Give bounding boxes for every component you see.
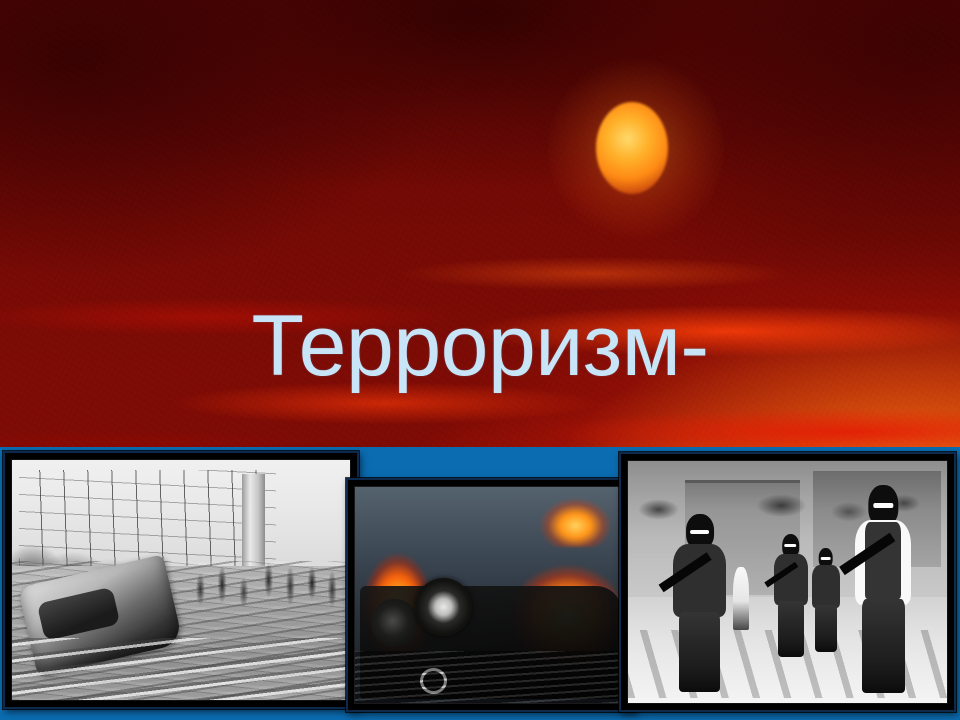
photo-train-derailment[interactable] <box>3 451 359 709</box>
derailment-onlookers <box>188 542 343 619</box>
militant-torso <box>812 565 840 608</box>
photo-burning-vehicle-image <box>354 486 628 704</box>
militant-legs <box>815 605 837 652</box>
photo-armed-militants-image <box>627 460 948 704</box>
derailment-twisted-rails <box>11 638 351 700</box>
militant-figure-background-2 <box>810 548 842 650</box>
photo-armed-militants[interactable] <box>619 452 956 712</box>
burning-vehicle-debris <box>355 651 627 703</box>
militant-legs <box>778 601 804 657</box>
militant-legs <box>862 599 905 693</box>
photo-burning-vehicle[interactable] <box>346 478 636 712</box>
militant-torso <box>673 544 726 617</box>
derailment-scene <box>12 460 350 700</box>
militant-legs <box>679 612 720 692</box>
burning-vehicle-tire-secondary <box>371 599 417 647</box>
militant-figure-foreground <box>851 485 915 688</box>
burning-vehicle-tire-primary <box>415 578 472 636</box>
militants-bystander <box>733 567 749 630</box>
militant-figure-kneeling <box>669 514 730 688</box>
presentation-slide: Терроризм- угроза обществу <box>0 0 960 720</box>
militant-figure-background-1 <box>772 534 810 655</box>
burning-vehicle-scene <box>355 487 627 703</box>
photo-train-derailment-image <box>11 459 351 701</box>
slide-title-line-1: Терроризм- <box>0 302 960 391</box>
tactical-vest <box>865 522 901 599</box>
militants-scene <box>628 461 947 703</box>
burning-vehicle-flame-top <box>535 491 617 547</box>
